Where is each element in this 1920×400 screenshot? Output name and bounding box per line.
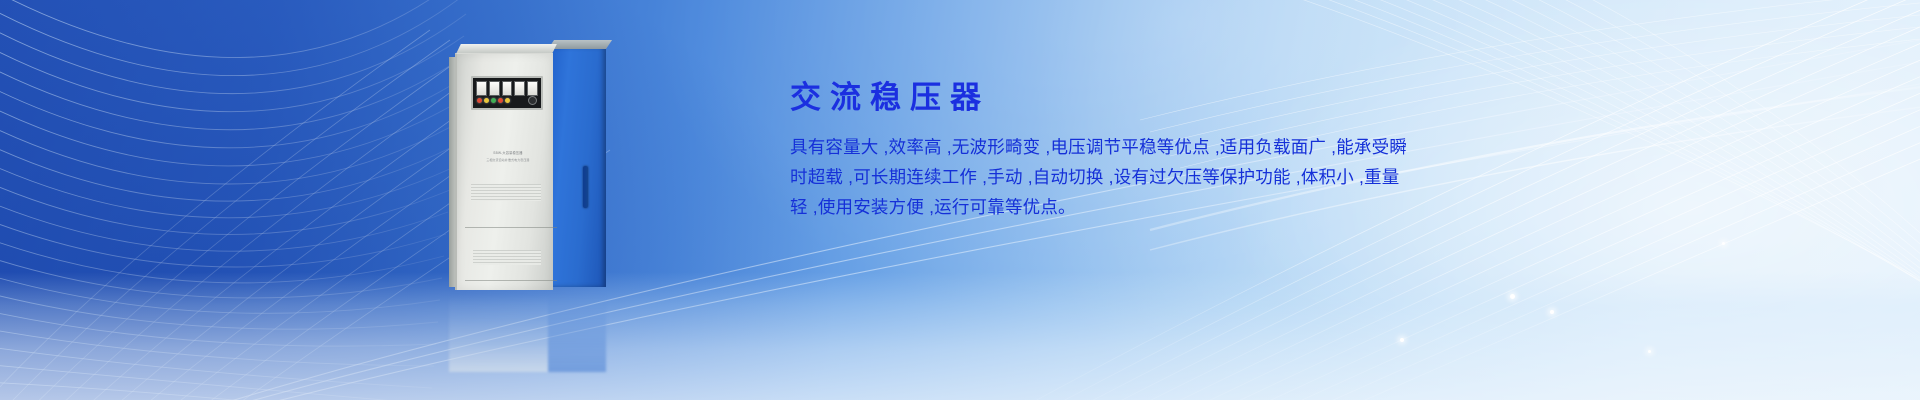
sparkle-dot — [1400, 338, 1404, 342]
sparkle-dot — [1648, 350, 1651, 353]
banner-copy-block: 交流稳压器 具有容量大 ,效率高 ,无波形畸变 ,电压调节平稳等优点 ,适用负载… — [790, 80, 1330, 222]
reflection-blue-panel — [548, 294, 606, 372]
cabinet-door-handle — [583, 166, 588, 208]
indicator-lamp-yellow-icon — [505, 98, 510, 103]
indicator-lamp-red-icon — [498, 98, 503, 103]
rotary-knob-icon — [528, 96, 537, 105]
cabinet-blue-side-panel — [548, 47, 606, 287]
cabinet-panel-seam — [465, 227, 557, 228]
indicator-lamp-row — [476, 96, 538, 105]
sparkle-dot — [1722, 242, 1725, 245]
analog-meter — [476, 81, 487, 96]
analog-meter — [489, 81, 500, 96]
sparkle-dot — [1550, 310, 1554, 314]
banner-headline: 交流稳压器 — [790, 80, 1330, 116]
cabinet-panel-seam — [465, 280, 557, 281]
cabinet-side-top-edge — [548, 40, 612, 49]
meter-row — [476, 81, 538, 96]
control-panel — [471, 76, 543, 110]
product-image-stabilizer: SBW-大容量稳压器 三相交流自动补偿式电力稳压器 — [449, 40, 606, 294]
banner-body-line-2: 时超载 ,可长期连续工作 ,手动 ,自动切换 ,设有过欠压等保护功能 ,体积小 … — [790, 162, 1330, 192]
analog-meter — [502, 81, 513, 96]
analog-meter — [514, 81, 525, 96]
cabinet-vent-louver — [473, 250, 541, 265]
nameplate-model: SBW-大容量稳压器 — [493, 152, 522, 155]
cabinet-vent-louver — [471, 184, 541, 201]
analog-meter — [527, 81, 538, 96]
indicator-lamp-yellow-icon — [484, 98, 489, 103]
indicator-lamp-green-icon — [491, 98, 496, 103]
banner-body-line-1: 具有容量大 ,效率高 ,无波形畸变 ,电压调节平稳等优点 ,适用负载面广 ,能承… — [790, 132, 1330, 162]
banner-body-line-3: 轻 ,使用安装方便 ,运行可靠等优点。 — [790, 192, 1330, 222]
cabinet-nameplate: SBW-大容量稳压器 三相交流自动补偿式电力稳压器 — [477, 146, 539, 168]
background-floor-reflection — [0, 272, 1920, 400]
cabinet-front-face: SBW-大容量稳压器 三相交流自动补偿式电力稳压器 — [455, 53, 553, 290]
sparkle-dot — [1510, 294, 1515, 299]
product-floor-reflection — [449, 294, 606, 372]
product-hero-banner: SBW-大容量稳压器 三相交流自动补偿式电力稳压器 交流稳压器 具有容量大 ,效… — [0, 0, 1920, 400]
indicator-lamp-red-icon — [477, 98, 482, 103]
nameplate-description: 三相交流自动补偿式电力稳压器 — [486, 159, 529, 162]
